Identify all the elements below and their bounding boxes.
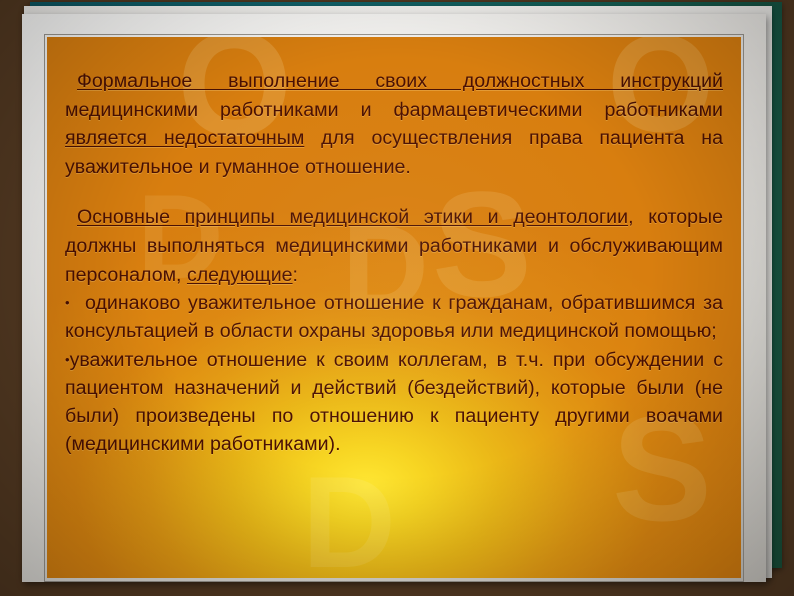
slide-stage: O O S S D D D Формальное выполнение свои… (0, 0, 794, 596)
p1-plain-mid: медицинскими работниками и фармацевтичес… (65, 99, 723, 121)
p2-underlined-emphasis: следующие (187, 264, 293, 286)
slide-text-body: Формальное выполнение своих должностных … (65, 67, 723, 458)
p2-underlined-lead: Основные принципы медицинской этики и де… (77, 206, 628, 228)
paragraph-formal-duties: Формальное выполнение своих должностных … (65, 67, 723, 181)
paragraph-ethics-principles: Основные принципы медицинской этики и де… (65, 203, 723, 289)
watermark-glyph-d-2: D (302, 457, 396, 578)
bullet-text-1: одинаково уважительное отношение к гражд… (65, 292, 723, 342)
p1-underlined-emphasis: является недостаточным (65, 127, 304, 149)
bullet-item-1: • одинаково уважительное отношение к гра… (65, 289, 723, 345)
slide-canvas: O O S S D D D Формальное выполнение свои… (47, 37, 741, 578)
bullet-text-2: уважительное отношение к своим коллегам,… (65, 349, 723, 456)
slide-front-card: O O S S D D D Формальное выполнение свои… (22, 14, 766, 582)
bullet-item-2: •уважительное отношение к своим коллегам… (65, 346, 723, 459)
bullet-marker-icon-1: • (65, 295, 70, 310)
p1-underlined-lead: Формальное выполнение своих должностных … (77, 70, 723, 92)
p2-plain-tail: : (293, 264, 298, 286)
